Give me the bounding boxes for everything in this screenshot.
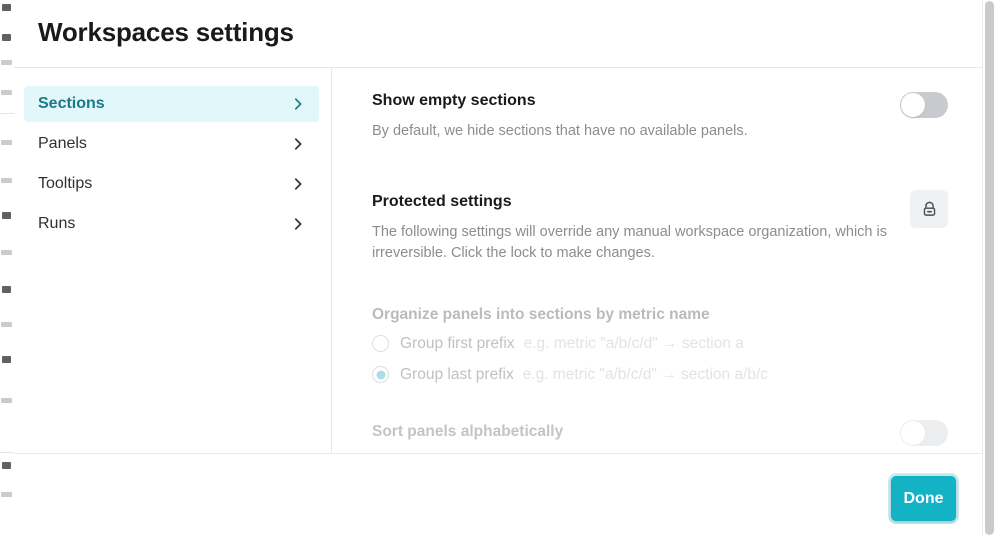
toggle-knob [901, 421, 925, 445]
protected-settings-text: Protected settings The following setting… [372, 191, 892, 264]
background-artifact [0, 113, 14, 114]
radio-icon-selected [372, 366, 389, 383]
protected-settings-row: Protected settings The following setting… [372, 191, 948, 264]
sidebar-item-panels[interactable]: Panels [24, 126, 319, 162]
lock-toggle-button[interactable] [910, 190, 948, 228]
background-artifact [1, 492, 12, 497]
toggle-knob [901, 93, 925, 117]
background-artifact [2, 356, 11, 363]
sidebar-item-label: Sections [38, 95, 105, 113]
background-artifact [1, 178, 12, 183]
lock-closed-icon [920, 200, 939, 219]
sidebar-item-label: Tooltips [38, 175, 92, 193]
sidebar-item-label: Panels [38, 135, 87, 153]
chevron-right-icon [291, 217, 305, 231]
radio-hint: e.g. metric "a/b/c/d" → section a [524, 335, 744, 353]
radio-icon-unselected [372, 335, 389, 352]
settings-sidebar: Sections Panels Tooltips Runs [14, 68, 332, 453]
chevron-right-icon [291, 97, 305, 111]
protected-settings-block: Protected settings The following setting… [372, 191, 948, 446]
background-artifact [1, 398, 12, 403]
background-artifact [2, 462, 11, 469]
background-artifact [2, 4, 11, 11]
sort-panels-label: Sort panels alphabetically [372, 423, 563, 441]
background-artifact [2, 286, 11, 293]
background-artifact [0, 452, 14, 453]
show-empty-sections-toggle[interactable] [900, 92, 948, 118]
modal-header: Workspaces settings [14, 0, 982, 68]
radio-hint: e.g. metric "a/b/c/d" → section a/b/c [523, 366, 768, 384]
scrollbar-thumb[interactable] [985, 1, 994, 535]
show-empty-sections-row: Show empty sections By default, we hide … [372, 90, 948, 142]
sort-panels-row: Sort panels alphabetically [372, 418, 948, 446]
done-button[interactable]: Done [891, 476, 956, 521]
sidebar-item-label: Runs [38, 215, 75, 233]
page-title: Workspaces settings [38, 17, 294, 48]
radio-group-last-prefix[interactable]: Group last prefix e.g. metric "a/b/c/d" … [372, 359, 948, 390]
background-artifact [2, 212, 11, 219]
radio-group-first-prefix[interactable]: Group first prefix e.g. metric "a/b/c/d"… [372, 328, 948, 359]
radio-label: Group first prefix [400, 335, 515, 353]
background-artifact [1, 322, 12, 327]
background-artifact [1, 60, 12, 65]
chevron-right-icon [291, 177, 305, 191]
background-artifact [1, 140, 12, 145]
show-empty-sections-text: Show empty sections By default, we hide … [372, 90, 748, 142]
chevron-right-icon [291, 137, 305, 151]
sidebar-item-runs[interactable]: Runs [24, 206, 319, 242]
modal-footer: Done [14, 453, 982, 536]
sidebar-item-tooltips[interactable]: Tooltips [24, 166, 319, 202]
background-artifact [1, 90, 12, 95]
background-artifact [1, 250, 12, 255]
radio-label: Group last prefix [400, 366, 514, 384]
sidebar-item-sections[interactable]: Sections [24, 86, 319, 122]
workspaces-settings-modal: Workspaces settings Sections Panels Tool… [14, 0, 982, 536]
settings-content-pane: Show empty sections By default, we hide … [333, 68, 982, 453]
vertical-scrollbar[interactable] [982, 0, 996, 536]
sort-panels-toggle[interactable] [900, 420, 948, 446]
show-empty-sections-description: By default, we hide sections that have n… [372, 121, 748, 142]
background-page-strip [0, 0, 14, 536]
background-artifact [2, 34, 11, 41]
organize-group-label: Organize panels into sections by metric … [372, 304, 948, 326]
protected-settings-title: Protected settings [372, 191, 892, 213]
modal-body: Sections Panels Tooltips Runs [14, 68, 982, 453]
show-empty-sections-title: Show empty sections [372, 90, 748, 112]
protected-settings-description: The following settings will override any… [372, 222, 892, 264]
